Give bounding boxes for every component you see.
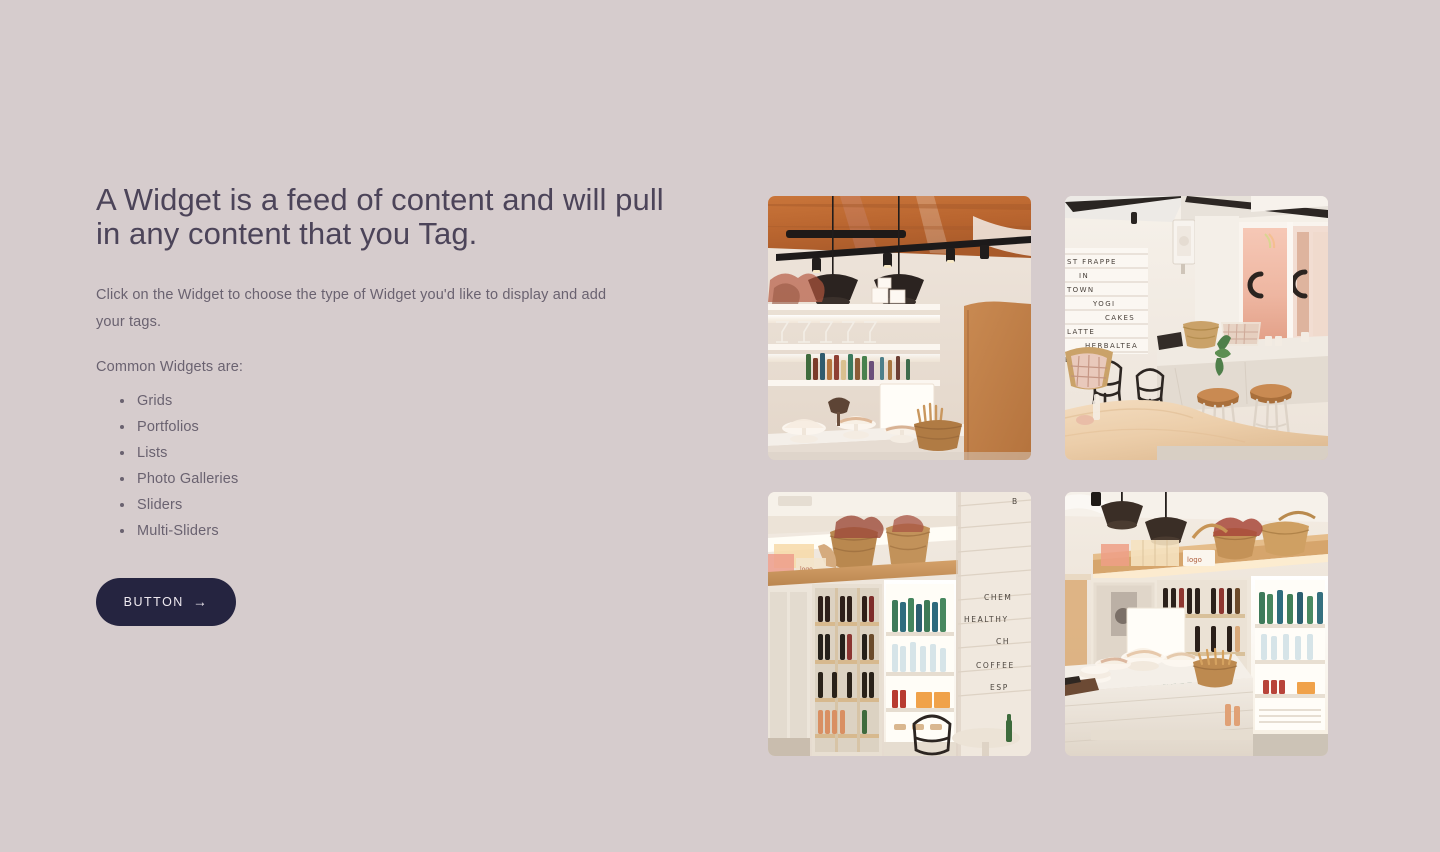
list-item: Sliders bbox=[96, 492, 676, 518]
svg-text:TOWN: TOWN bbox=[1066, 286, 1095, 294]
cta-button[interactable]: BUTTON → bbox=[96, 578, 236, 626]
svg-text:LATTE: LATTE bbox=[1067, 328, 1095, 336]
widget-types-list: Grids Portfolios Lists Photo Galleries S… bbox=[96, 388, 676, 544]
page-root: A Widget is a feed of content and will p… bbox=[0, 0, 1440, 852]
cafe-counter-illustration: logo bbox=[1065, 492, 1328, 756]
svg-text:logo: logo bbox=[1187, 556, 1202, 564]
page-title: A Widget is a feed of content and will p… bbox=[96, 183, 666, 251]
svg-text:YOGI: YOGI bbox=[1092, 300, 1116, 308]
list-item: Portfolios bbox=[96, 414, 676, 440]
intro-paragraph: Click on the Widget to choose the type o… bbox=[96, 282, 626, 336]
wine-fridge-illustration: logo bbox=[768, 492, 1031, 756]
list-lead-in-label: Common Widgets are: bbox=[96, 355, 676, 379]
list-item: Multi-Sliders bbox=[96, 518, 676, 544]
svg-text:ESP: ESP bbox=[990, 683, 1009, 692]
gallery-image-cafe-bar-shelves[interactable] bbox=[768, 196, 1031, 460]
svg-text:HEALTHY: HEALTHY bbox=[964, 615, 1009, 624]
cafe-letterboard-illustration: ST FRAPPE IN TOWN YOGI CAKES LATTE HERBA… bbox=[1065, 196, 1328, 460]
svg-text:ST FRAPPE: ST FRAPPE bbox=[1067, 258, 1117, 266]
svg-text:IN: IN bbox=[1079, 272, 1089, 280]
feature-text-column: A Widget is a feed of content and will p… bbox=[96, 183, 676, 626]
gallery-image-cafe-counter-pastries[interactable]: logo bbox=[1065, 492, 1328, 756]
svg-text:CH: CH bbox=[996, 637, 1010, 646]
image-gallery-grid: ST FRAPPE IN TOWN YOGI CAKES LATTE HERBA… bbox=[768, 196, 1328, 756]
list-item: Lists bbox=[96, 440, 676, 466]
svg-text:CAKES: CAKES bbox=[1105, 314, 1135, 322]
gallery-image-wine-fridge-letterboard[interactable]: logo bbox=[768, 492, 1031, 756]
gallery-image-cafe-letterboard-stools[interactable]: ST FRAPPE IN TOWN YOGI CAKES LATTE HERBA… bbox=[1065, 196, 1328, 460]
list-item: Photo Galleries bbox=[96, 466, 676, 492]
svg-text:COFFEE: COFFEE bbox=[976, 661, 1015, 670]
cafe-bar-shelves-illustration bbox=[768, 196, 1031, 460]
arrow-right-icon: → bbox=[193, 595, 209, 609]
cta-button-label: BUTTON bbox=[124, 595, 184, 609]
svg-text:CHEM: CHEM bbox=[984, 593, 1013, 602]
svg-text:B: B bbox=[1012, 497, 1019, 506]
list-item: Grids bbox=[96, 388, 676, 414]
